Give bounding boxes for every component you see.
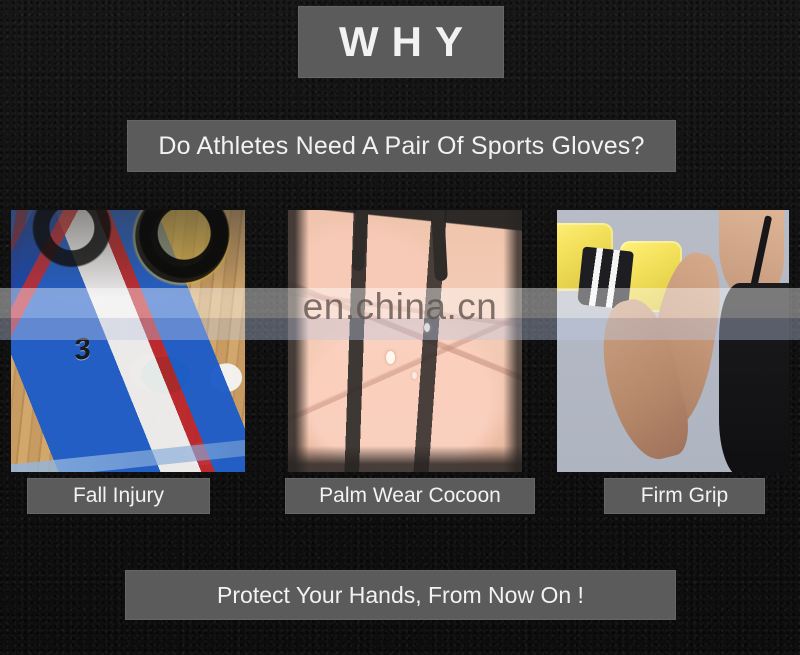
athlete-torso xyxy=(719,283,789,472)
caption-label: Fall Injury xyxy=(73,484,164,508)
photo-dumbbell-lift xyxy=(557,210,789,472)
caption-fall-injury: Fall Injury xyxy=(27,478,210,514)
poster-subtitle-plaque: Do Athletes Need A Pair Of Sports Gloves… xyxy=(127,120,676,172)
page-title: WHY xyxy=(326,21,476,63)
photo-panel-firm-grip xyxy=(557,210,789,472)
photo-track-line xyxy=(11,435,245,472)
caption-label: Firm Grip xyxy=(641,484,729,508)
photo-cyclist-crash: 3 xyxy=(11,210,245,472)
poster-canvas: WHY Do Athletes Need A Pair Of Sports Gl… xyxy=(0,0,800,655)
photo-panel-palm-wear xyxy=(288,210,522,472)
jersey-number: 3 xyxy=(71,332,93,368)
caption-firm-grip: Firm Grip xyxy=(604,478,765,514)
poster-footer-text: Protect Your Hands, From Now On ! xyxy=(217,582,584,609)
photo-panel-fall-injury: 3 xyxy=(11,210,245,472)
caption-palm-wear-cocoon: Palm Wear Cocoon xyxy=(285,478,535,514)
photo-overlay-bikes xyxy=(11,210,245,299)
poster-title-plaque: WHY xyxy=(298,6,504,78)
poster-footer-plaque: Protect Your Hands, From Now On ! xyxy=(125,570,676,620)
photo-worn-palm xyxy=(288,210,522,472)
caption-label: Palm Wear Cocoon xyxy=(319,484,501,508)
photo-vignette xyxy=(288,210,522,472)
poster-subtitle: Do Athletes Need A Pair Of Sports Gloves… xyxy=(158,132,644,161)
